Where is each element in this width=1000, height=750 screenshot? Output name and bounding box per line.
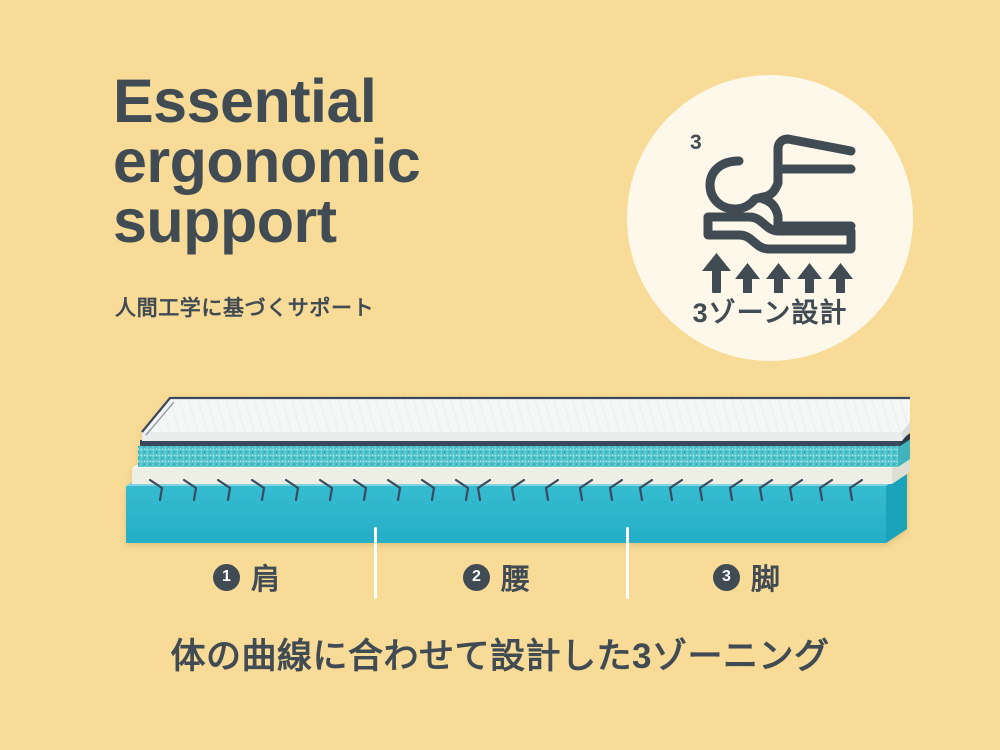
arrow-up-1 bbox=[702, 253, 731, 293]
page-subtitle: 人間工学に基づくサポート bbox=[115, 292, 374, 322]
page-title: Essential ergonomic support bbox=[113, 72, 613, 251]
mattress-base-core bbox=[126, 486, 886, 543]
mattress-gel-foam bbox=[138, 446, 898, 467]
arrow-up-5 bbox=[828, 263, 853, 293]
zone-name-1: 肩 bbox=[251, 556, 280, 598]
zone-divider-2 bbox=[626, 527, 629, 599]
zone-divider-1 bbox=[374, 527, 377, 599]
bottom-caption: 体の曲線に合わせて設計した3ゾーニング bbox=[0, 628, 1000, 679]
zone-label-shoulder: 1 肩 bbox=[213, 556, 280, 598]
infographic-canvas: Essential ergonomic support 人間工学に基づくサポート… bbox=[0, 0, 1000, 750]
zone-label-waist: 2 腰 bbox=[463, 556, 530, 598]
mattress-cross-section-illustration bbox=[110, 388, 910, 558]
person-on-mattress-with-upward-arrows-icon bbox=[679, 113, 865, 293]
zone-label-legs: 3 脚 bbox=[713, 556, 780, 598]
mattress-top-cover-front bbox=[142, 432, 902, 441]
zone-number-badge-3: 3 bbox=[713, 564, 740, 591]
zone-number-badge-1: 1 bbox=[213, 564, 240, 591]
zone-number-badge-2: 2 bbox=[463, 564, 490, 591]
arrow-up-2 bbox=[735, 263, 760, 293]
badge-label: 3ゾーン設計 bbox=[627, 291, 913, 330]
mattress-top-cover-surface bbox=[142, 398, 910, 432]
arrow-up-4 bbox=[797, 263, 822, 293]
mattress-support-foam bbox=[132, 468, 892, 484]
zone-name-3: 脚 bbox=[751, 556, 780, 598]
zone-name-2: 腰 bbox=[501, 556, 530, 598]
arrow-up-3 bbox=[766, 263, 791, 293]
three-zone-badge: 3 bbox=[627, 75, 913, 361]
